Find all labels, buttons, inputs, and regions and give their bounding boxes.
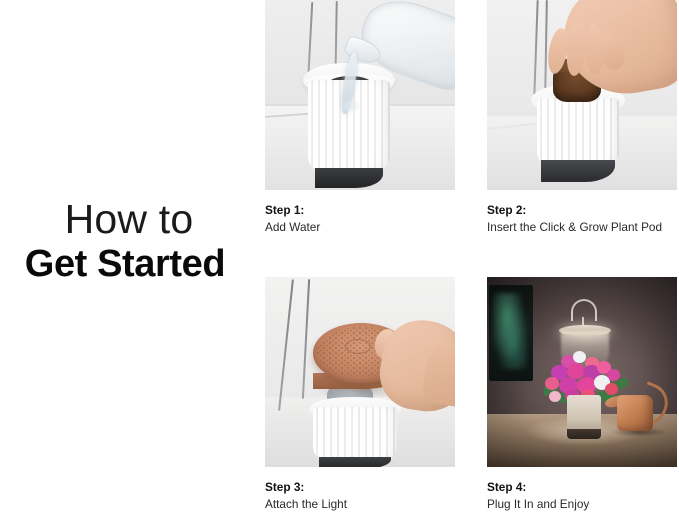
step-4-description: Plug It In and Enjoy xyxy=(487,496,677,513)
title-line-how-to: How to xyxy=(0,196,250,242)
photo4-flower xyxy=(549,391,561,402)
photo3-planter-body xyxy=(313,407,397,461)
photo1-water-splash xyxy=(339,98,361,114)
photo3-light-center-ring xyxy=(345,339,371,354)
steps-grid: Step 1: Add Water xyxy=(265,0,679,520)
step-2-label: Step 2: xyxy=(487,202,677,219)
step-3-caption: Step 3: Attach the Light xyxy=(265,479,455,512)
page-title: How to Get Started xyxy=(0,196,250,286)
step-3-label: Step 3: xyxy=(265,479,455,496)
photo4-flower xyxy=(605,383,618,395)
step-4-caption: Step 4: Plug It In and Enjoy xyxy=(487,479,677,512)
photo4-flower xyxy=(545,377,559,390)
step-2-description: Insert the Click & Grow Plant Pod xyxy=(487,219,677,236)
step-4-photo xyxy=(487,277,677,467)
step-3-photo xyxy=(265,277,455,467)
step-2-caption: Step 2: Insert the Click & Grow Plant Po… xyxy=(487,202,677,235)
step-item-2: Step 2: Insert the Click & Grow Plant Po… xyxy=(487,0,677,235)
step-item-3: Step 3: Attach the Light xyxy=(265,277,455,512)
title-line-get-started: Get Started xyxy=(0,242,250,286)
step-1-caption: Step 1: Add Water xyxy=(265,202,455,235)
photo4-planter-base xyxy=(567,429,601,439)
step-item-1: Step 1: Add Water xyxy=(265,0,455,235)
step-1-description: Add Water xyxy=(265,219,455,236)
step-1-label: Step 1: xyxy=(265,202,455,219)
photo2-planter-body xyxy=(537,98,619,166)
photo3-planter-base xyxy=(319,457,391,467)
photo4-copper-watering-can xyxy=(617,395,653,431)
how-to-get-started-infographic: How to Get Started xyxy=(0,0,679,520)
photo4-screen-aurora xyxy=(493,293,527,369)
step-1-photo xyxy=(265,0,455,190)
step-4-label: Step 4: xyxy=(487,479,677,496)
step-item-4: Step 4: Plug It In and Enjoy xyxy=(487,277,677,512)
step-2-photo xyxy=(487,0,677,190)
step-3-description: Attach the Light xyxy=(265,496,455,513)
photo4-flower xyxy=(573,351,586,363)
